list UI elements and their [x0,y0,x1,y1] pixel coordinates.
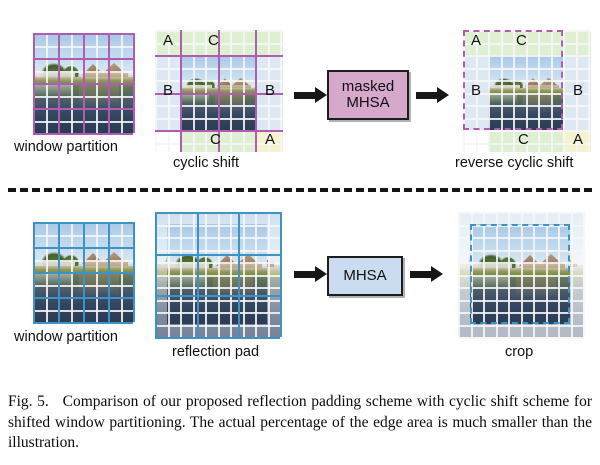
masked-mhsa-box[interactable]: masked MHSA [327,70,409,120]
mhsa-box[interactable]: MHSA [327,256,403,296]
region-label-c-top: C [208,32,219,49]
crop-selection-box [470,224,570,324]
region-label-a-topleft: A [163,32,173,49]
region-label-b-right: B [573,82,583,99]
panel-window-partition-top [33,33,133,133]
caption-window-partition-top: window partition [14,139,118,155]
region-label-b-left: B [163,82,173,99]
masked-mhsa-line1: masked [342,79,395,95]
caption-reflection-pad: reflection pad [172,344,259,360]
panel-crop [458,212,583,337]
arrow-to-masked-mhsa [294,92,316,99]
figure-illustration: window partition A C B B C A cyclic shif… [0,0,600,378]
sample-photo [33,222,133,322]
sample-photo-shifted [180,55,255,130]
region-label-c-top: C [516,32,527,49]
mhsa-label: MHSA [343,268,386,284]
arrow-to-mhsa [294,271,316,278]
figure-caption: Fig. 5. Comparison of our proposed refle… [8,392,592,454]
sample-photo-core [167,224,267,324]
figure-number: Fig. 5. [8,393,49,410]
arrow-from-mhsa [410,271,432,278]
caption-cyclic-shift: cyclic shift [173,155,239,171]
caption-window-partition-bottom: window partition [14,329,118,345]
region-label-c-bottom: C [210,131,221,148]
region-label-b-left: B [471,82,481,99]
panel-window-partition-bottom [33,222,133,322]
region-label-a-bottomright: A [573,131,583,148]
region-label-a-topleft: A [471,32,481,49]
panel-cyclic-shift: A C B B C A [155,30,283,152]
region-label-a-bottomright: A [265,131,275,148]
figure-caption-text: Comparison of our proposed reflection pa… [8,393,592,451]
panel-reverse-cyclic-shift: A C B B C A [463,30,591,152]
arrow-from-masked-mhsa [416,92,438,99]
caption-reverse-cyclic-shift: reverse cyclic shift [455,155,573,171]
section-divider [8,188,592,192]
tint-green-topright [563,30,591,55]
caption-crop: crop [505,344,533,360]
tint-green-topright [255,30,283,55]
region-label-c-bottom: C [518,131,529,148]
sample-photo [33,33,133,133]
masked-mhsa-line2: MHSA [346,95,389,111]
panel-reflection-pad [155,212,280,337]
region-label-b-right: B [265,82,275,99]
